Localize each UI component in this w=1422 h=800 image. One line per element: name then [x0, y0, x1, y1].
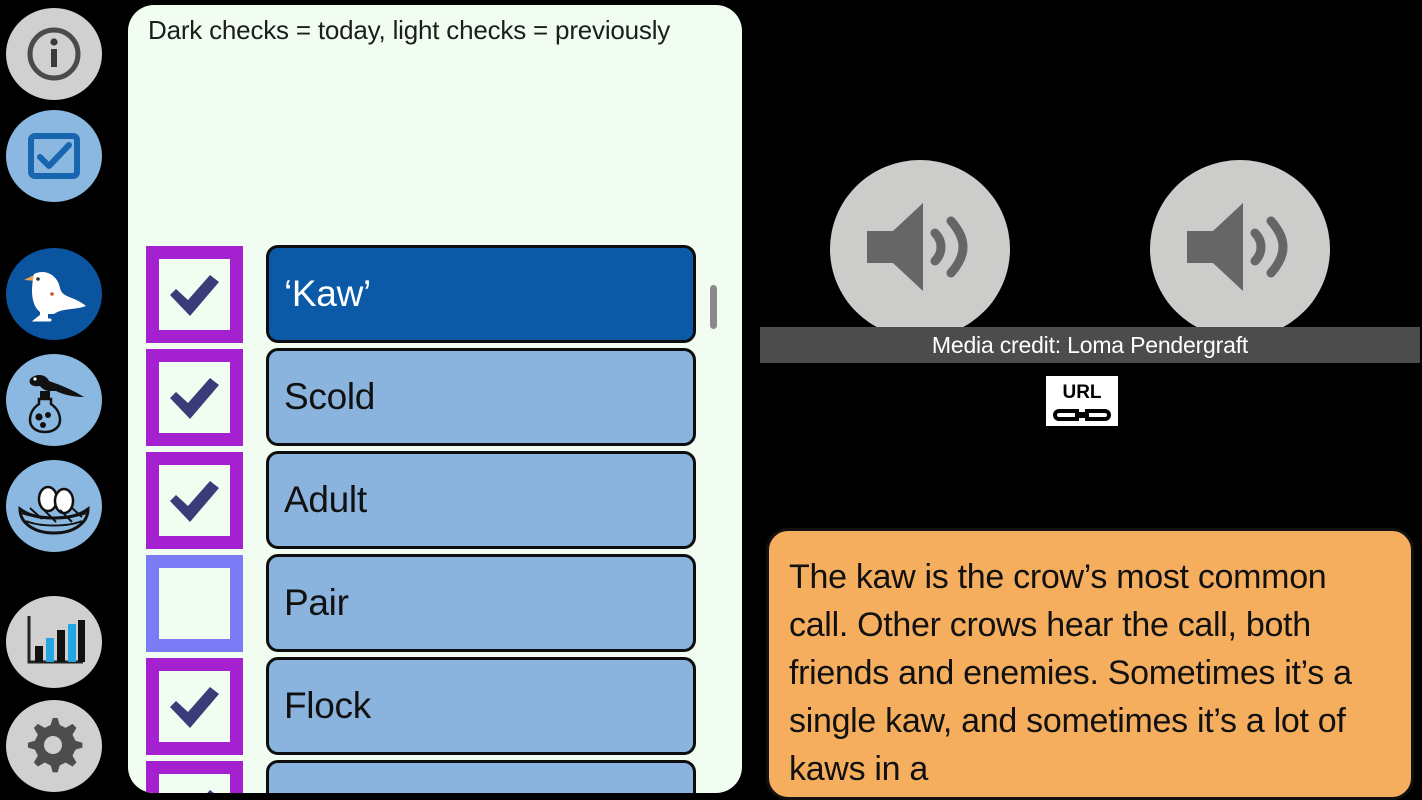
app-root: Dark checks = today, light checks = prev…: [0, 0, 1422, 800]
sidebar-item-info[interactable]: [6, 8, 102, 100]
play-audio-button-1[interactable]: [830, 160, 1010, 338]
checklist-row[interactable]: [128, 758, 742, 793]
scrollbar-thumb[interactable]: [710, 285, 717, 329]
sidebar-item-crow-bottle[interactable]: [6, 354, 102, 446]
scrollbar-track[interactable]: [710, 248, 717, 788]
crow-bottle-icon: [16, 365, 92, 435]
info-description-text: The kaw is the crow’s most common call. …: [789, 558, 1352, 788]
checkbox-unchecked[interactable]: [146, 555, 243, 652]
checkbox-checked[interactable]: [146, 761, 243, 793]
sidebar-item-bird[interactable]: [6, 248, 102, 340]
checkbox-icon: [23, 125, 85, 187]
bar-chart-icon: [21, 612, 87, 672]
svg-text:URL: URL: [1062, 382, 1101, 403]
info-icon: [23, 23, 85, 85]
speaker-icon: [861, 195, 979, 304]
checklist-row[interactable]: Pair: [128, 552, 742, 655]
play-audio-button-2[interactable]: [1150, 160, 1330, 338]
sidebar-item-settings[interactable]: [6, 700, 102, 792]
checkbox-checked[interactable]: [146, 658, 243, 755]
sidebar: [0, 0, 108, 800]
checklist-header: Dark checks = today, light checks = prev…: [148, 15, 670, 46]
checklist-panel: Dark checks = today, light checks = prev…: [128, 5, 742, 793]
checklist-item-label[interactable]: Adult: [266, 451, 696, 549]
check-mark-icon: [166, 269, 224, 321]
check-mark-icon: [166, 784, 224, 794]
url-link-icon[interactable]: URL: [1046, 376, 1118, 426]
media-credit-text: Media credit: Loma Pendergraft: [932, 332, 1248, 359]
check-mark-icon: [166, 372, 224, 424]
checkbox-checked[interactable]: [146, 349, 243, 446]
media-credit-bar: Media credit: Loma Pendergraft: [760, 327, 1420, 363]
speaker-icon: [1181, 195, 1299, 304]
gear-icon: [24, 716, 84, 776]
check-mark-icon: [166, 681, 224, 733]
checkbox-checked[interactable]: [146, 246, 243, 343]
checklist-row[interactable]: Flock: [128, 655, 742, 758]
check-mark-icon: [166, 475, 224, 527]
sidebar-item-checklist[interactable]: [6, 110, 102, 202]
checklist-rows: ‘Kaw’ScoldAdultPairFlock: [128, 243, 742, 793]
checklist-item-label[interactable]: Scold: [266, 348, 696, 446]
sidebar-item-nest[interactable]: [6, 460, 102, 552]
checklist-item-label[interactable]: ‘Kaw’: [266, 245, 696, 343]
checklist-item-label[interactable]: Pair: [266, 554, 696, 652]
checkbox-checked[interactable]: [146, 452, 243, 549]
bird-icon: [16, 262, 92, 326]
checklist-row[interactable]: Scold: [128, 346, 742, 449]
sidebar-item-stats[interactable]: [6, 596, 102, 688]
info-description-panel: The kaw is the crow’s most common call. …: [766, 528, 1414, 800]
checklist-item-label[interactable]: Flock: [266, 657, 696, 755]
nest-icon: [14, 475, 94, 537]
checklist-row[interactable]: ‘Kaw’: [128, 243, 742, 346]
checklist-row[interactable]: Adult: [128, 449, 742, 552]
checklist-item-label[interactable]: [266, 760, 696, 793]
